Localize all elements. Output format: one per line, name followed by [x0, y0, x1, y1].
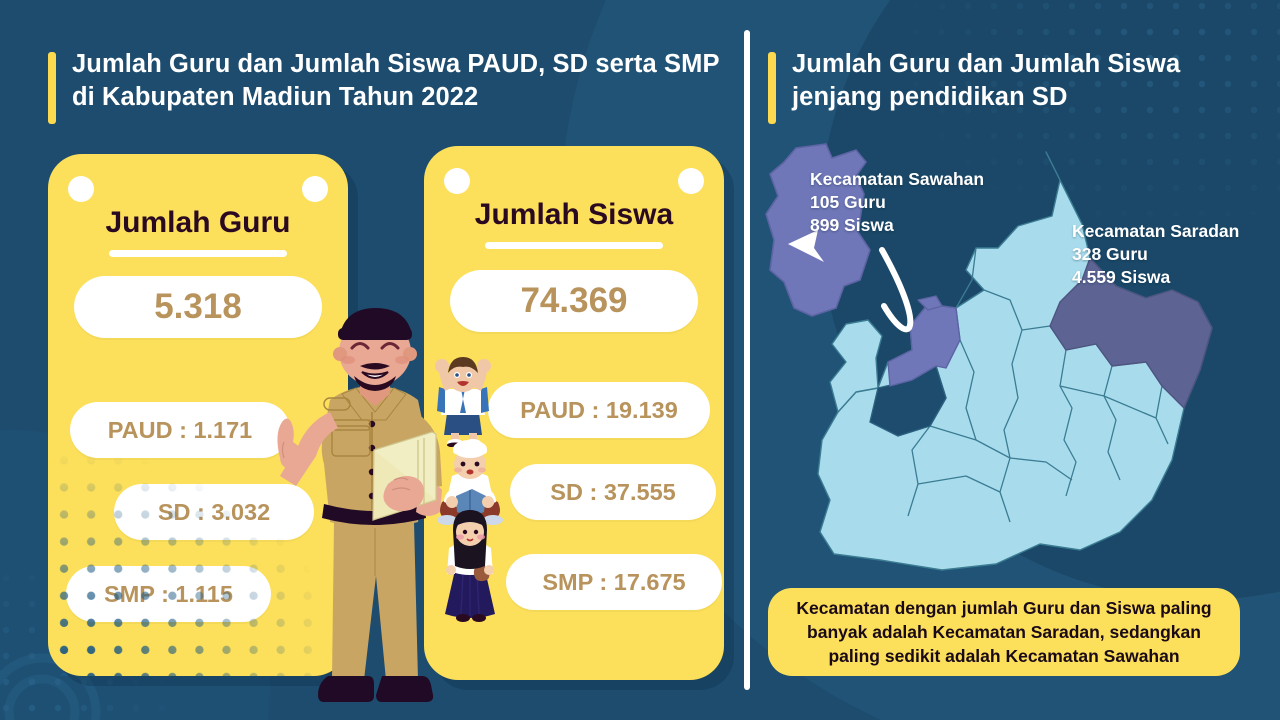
callout-sawahan: Kecamatan Sawahan 105 Guru 899 Siswa [810, 168, 1040, 236]
card-guru-heading: Jumlah Guru [48, 206, 348, 240]
page-title-left: Jumlah Guru dan Jumlah Siswa PAUD, SD se… [48, 48, 738, 113]
page-title-right: Jumlah Guru dan Jumlah Siswa jenjang pen… [768, 48, 1238, 113]
vertical-divider [744, 30, 750, 690]
card-guru-underline [109, 250, 287, 257]
card-siswa-heading: Jumlah Siswa [424, 198, 724, 232]
card-siswa-underline [485, 242, 663, 249]
card-guru-paud-value: PAUD : 1.171 [70, 402, 290, 458]
callout-sawahan-siswa: 899 Siswa [810, 214, 1040, 237]
map-caption-box: Kecamatan dengan jumlah Guru dan Siswa p… [768, 588, 1240, 676]
card-hole-right-icon [302, 176, 328, 202]
card-guru-smp-value: SMP : 1.115 [66, 566, 271, 622]
callout-saradan-guru: 328 Guru [1072, 243, 1280, 266]
title-accent-bar-right [768, 52, 776, 124]
map-panel: Kecamatan Sawahan 105 Guru 899 Siswa Kec… [760, 140, 1260, 580]
callout-sawahan-name: Kecamatan Sawahan [810, 168, 1040, 191]
callout-saradan: Kecamatan Saradan 328 Guru 4.559 Siswa [1072, 220, 1280, 288]
callout-sawahan-guru: 105 Guru [810, 191, 1040, 214]
page-title-left-text: Jumlah Guru dan Jumlah Siswa PAUD, SD se… [72, 48, 738, 113]
card-siswa-total-value: 74.369 [450, 270, 698, 332]
infographic-canvas: Jumlah Guru dan Jumlah Siswa PAUD, SD se… [0, 0, 1280, 720]
card-siswa-smp-value: SMP : 17.675 [506, 554, 722, 610]
card-hole-right-icon [678, 168, 704, 194]
callout-saradan-name: Kecamatan Saradan [1072, 220, 1280, 243]
card-siswa-paud-value: PAUD : 19.139 [488, 382, 710, 438]
student-paud-illustration [425, 355, 501, 447]
title-accent-bar-left [48, 52, 56, 124]
card-hole-left-icon [444, 168, 470, 194]
callout-saradan-siswa: 4.559 Siswa [1072, 266, 1280, 289]
map-caption-text: Kecamatan dengan jumlah Guru dan Siswa p… [782, 596, 1226, 668]
card-siswa-sd-value: SD : 37.555 [510, 464, 716, 520]
student-smp-illustration [437, 508, 503, 628]
card-hole-left-icon [68, 176, 94, 202]
page-title-right-text: Jumlah Guru dan Jumlah Siswa jenjang pen… [792, 48, 1238, 113]
